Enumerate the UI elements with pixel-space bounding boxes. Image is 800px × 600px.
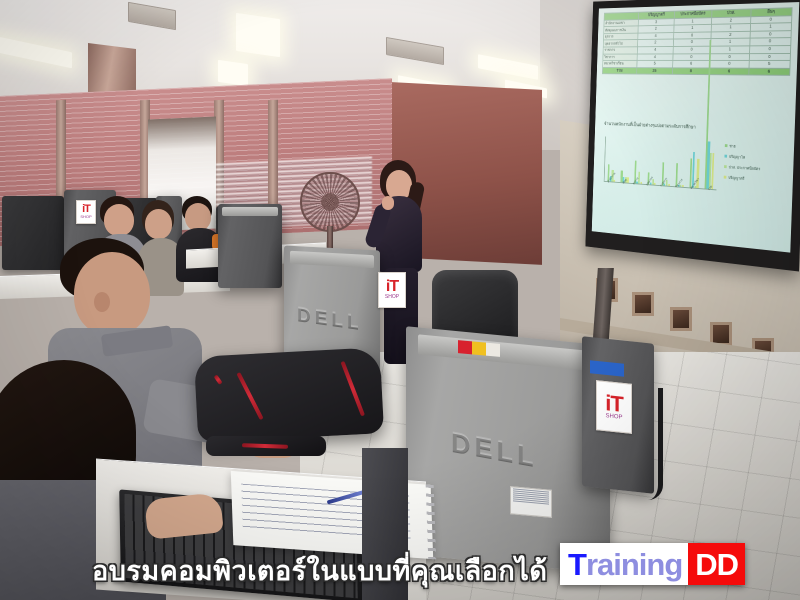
backpack-zipper-1 (214, 374, 223, 384)
backpack-zipper-3 (340, 361, 365, 417)
logo-left-block: T raining (560, 543, 688, 585)
caption-text: อบรมคอมพิวเตอร์ในแบบที่คุณเลือกได้ (92, 549, 547, 592)
logo-word-raining: raining (586, 549, 682, 580)
student-head (185, 203, 211, 231)
student-head (145, 209, 172, 239)
projected-slide: ปริญญาตรี ประกาศนียบัตร ปวส. อื่นๆ สำนัก… (592, 2, 800, 253)
logo-right-block: DD (688, 543, 745, 585)
projector-screen: ปริญญาตรี ประกาศนียบัตร ปวส. อื่นๆ สำนัก… (585, 0, 800, 272)
instructor-hand (382, 196, 394, 210)
student-head (74, 252, 150, 336)
student-ear (94, 292, 110, 312)
student-head (104, 204, 134, 236)
it-sticker-mid: iT SHOP (378, 272, 406, 308)
legend-item: ปริญญาโท (725, 152, 761, 161)
fan-head (300, 172, 360, 232)
typing-hand (144, 492, 224, 540)
table-row: วิชาการ 4 0 0 0 (603, 53, 790, 61)
table-total-row: รวม 25 8 6 6 (603, 67, 790, 75)
tower-foreground-dell: DELL (406, 326, 610, 574)
power-cable (648, 388, 663, 500)
logo-letter-t: T (568, 549, 586, 580)
slide-chart-title: จำนวนพนักงานที่เป็นฝ่ายต่างๆแบ่งตามระดับ… (604, 120, 696, 131)
dell-logo: DELL (451, 427, 538, 474)
pedestal-fan (300, 172, 360, 232)
bar-group (621, 137, 630, 183)
tower-drive-bay (290, 251, 374, 269)
slide-chart-legend: ชาย ปริญญาโท ปวส. ประกาศนียบัตร ปริญญาตร… (724, 142, 761, 187)
tower-mid-1 (218, 204, 282, 288)
monitor-back-1 (2, 196, 64, 270)
bar-group (704, 141, 714, 189)
legend-item: ปริญญาตรี (724, 173, 760, 182)
tower-spec-label (510, 486, 552, 518)
it-sticker-back-1: iT SHOP (76, 200, 96, 224)
backpack[interactable] (194, 347, 384, 443)
ceiling-light-3 (218, 60, 248, 86)
tower-drive-bay (222, 207, 278, 215)
trainingdd-logo: T raining DD (560, 543, 745, 585)
dell-logo: DELL (297, 304, 363, 335)
ceiling-light-2 (236, 13, 280, 57)
legend-item: ชาย (725, 142, 761, 151)
logo-word-dd: DD (695, 549, 738, 580)
legend-item: ปวส. ประกาศนียบัตร (724, 163, 760, 172)
wall-niche-3 (670, 307, 692, 331)
wall-niche-2 (632, 292, 654, 316)
bar (711, 153, 714, 189)
slide-data-table: ปริญญาตรี ประกาศนียบัตร ปวส. อื่นๆ สำนัก… (602, 7, 792, 76)
backpack-zipper-2 (236, 372, 263, 420)
it-sticker-right: iT SHOP (596, 380, 632, 434)
classroom-photo: ปริญญาตรี ประกาศนียบัตร ปวส. อื่นๆ สำนัก… (0, 0, 800, 600)
x-axis-label: พัสดุ (622, 178, 628, 185)
